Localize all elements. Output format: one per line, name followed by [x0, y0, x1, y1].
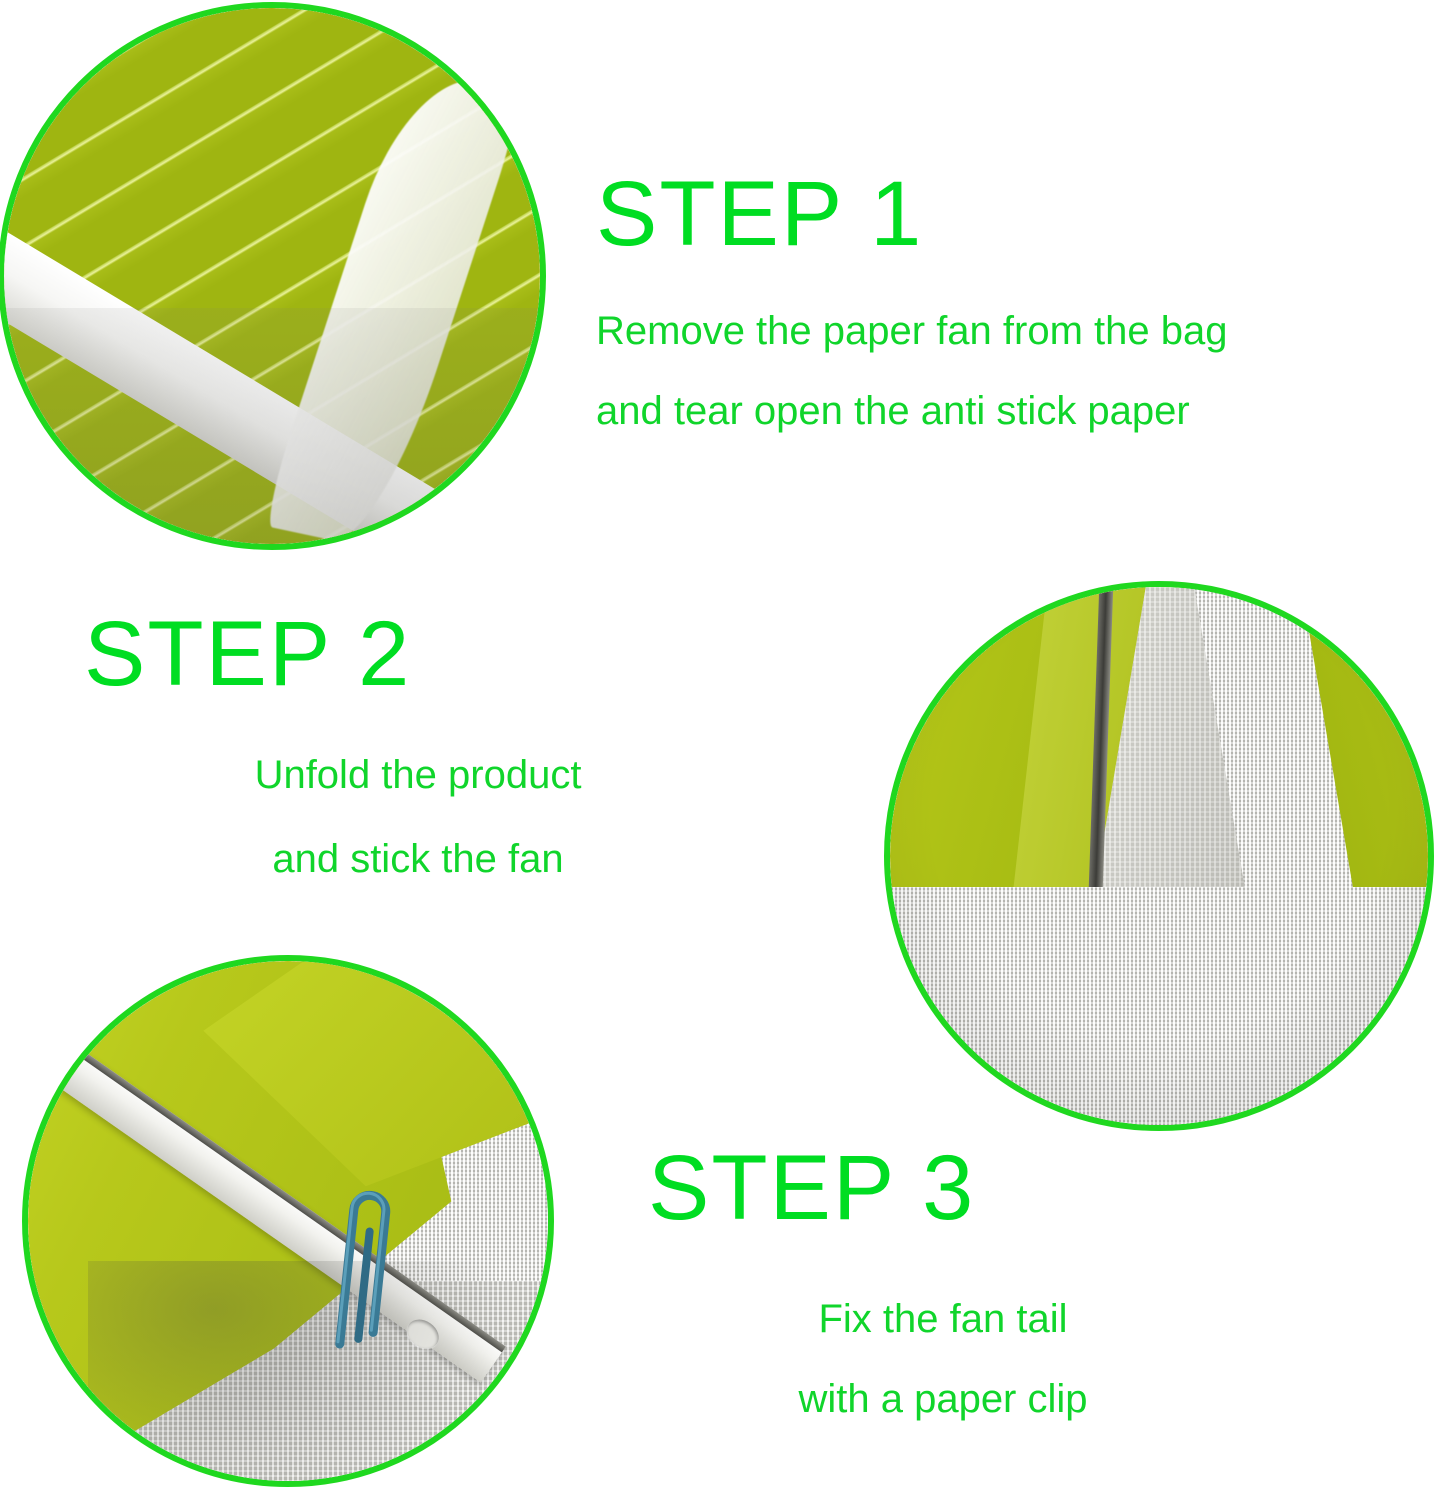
step-2-text-block: STEP 2 Unfold the product and stick the …	[78, 608, 758, 888]
step-2-photo-inner	[890, 587, 1428, 1125]
step-3-text-block: STEP 3 Fix the fan tail with a paper cli…	[648, 1142, 1348, 1428]
step-3-title: STEP 3	[648, 1142, 1348, 1234]
step-2-line-2: and stick the fan	[78, 830, 758, 888]
step-3-photo-inner	[28, 961, 548, 1481]
step-1-photo-inner	[4, 8, 540, 544]
step-1-line-2: and tear open the anti stick paper	[596, 382, 1227, 440]
step-3-line-1: Fix the fan tail	[648, 1290, 1348, 1348]
step-2-title: STEP 2	[78, 608, 758, 700]
step-2-line-1: Unfold the product	[78, 746, 758, 804]
photo-vignette	[890, 587, 1428, 1125]
step-3-line-2: with a paper clip	[648, 1370, 1348, 1428]
step-1-text-block: STEP 1 Remove the paper fan from the bag…	[596, 168, 1227, 440]
photo-shading	[4, 308, 540, 544]
step-2-lines: Unfold the product and stick the fan	[78, 746, 758, 888]
instruction-sheet: STEP 1 Remove the paper fan from the bag…	[0, 0, 1437, 1500]
step-1-lines: Remove the paper fan from the bag and te…	[596, 302, 1227, 440]
step-1-title: STEP 1	[596, 168, 1227, 260]
step-2-photo-circle	[884, 581, 1434, 1131]
step-3-lines: Fix the fan tail with a paper clip	[648, 1290, 1348, 1428]
photo-shading	[88, 1261, 508, 1481]
step-1-photo-circle	[0, 2, 546, 550]
step-1-line-1: Remove the paper fan from the bag	[596, 302, 1227, 360]
step-3-photo-circle	[22, 955, 554, 1487]
